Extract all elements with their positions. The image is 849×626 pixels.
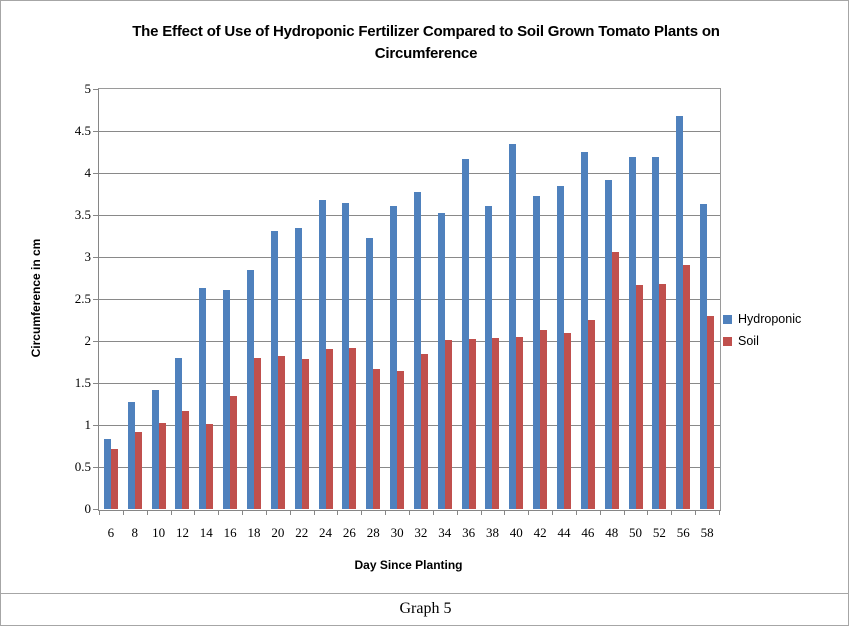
bar-group (409, 89, 433, 509)
bar-group (576, 89, 600, 509)
x-tick-mark (481, 510, 482, 515)
y-tick-label: 2 (31, 334, 91, 348)
y-tick-label: 1 (31, 418, 91, 432)
legend-item-hydroponic[interactable]: Hydroponic (723, 308, 843, 330)
bar-soil-day-8[interactable] (135, 432, 142, 509)
bar-soil-day-26[interactable] (349, 348, 356, 509)
bar-soil-day-34[interactable] (445, 340, 452, 509)
bar-group (314, 89, 338, 509)
bar-soil-day-46[interactable] (588, 320, 595, 509)
bar-soil-day-56[interactable] (683, 265, 690, 509)
bar-soil-day-28[interactable] (373, 369, 380, 509)
legend-item-soil[interactable]: Soil (723, 330, 843, 352)
bar-group (433, 89, 457, 509)
bar-group (695, 89, 719, 509)
bar-group (266, 89, 290, 509)
bar-hydroponic-day-52[interactable] (652, 157, 659, 509)
bar-group (481, 89, 505, 509)
bar-soil-day-36[interactable] (469, 339, 476, 509)
bar-hydroponic-day-30[interactable] (390, 206, 397, 509)
bar-soil-day-52[interactable] (659, 284, 666, 509)
y-tick-label: 0 (31, 502, 91, 516)
x-tick-mark (624, 510, 625, 515)
bar-hydroponic-day-8[interactable] (128, 402, 135, 509)
bar-hydroponic-day-18[interactable] (247, 270, 254, 509)
figure-caption: Graph 5 (1, 600, 849, 618)
bar-hydroponic-day-24[interactable] (319, 200, 326, 509)
x-tick-mark (218, 510, 219, 515)
x-tick-mark (290, 510, 291, 515)
bar-soil-day-32[interactable] (421, 354, 428, 509)
y-tick-label: 4 (31, 166, 91, 180)
bar-soil-day-44[interactable] (564, 333, 571, 509)
x-tick-mark (242, 510, 243, 515)
bar-hydroponic-day-12[interactable] (175, 358, 182, 509)
bar-hydroponic-day-26[interactable] (342, 203, 349, 509)
bar-group (600, 89, 624, 509)
chart-figure: The Effect of Use of Hydroponic Fertiliz… (0, 0, 849, 626)
bar-soil-day-24[interactable] (326, 349, 333, 509)
bar-hydroponic-day-38[interactable] (485, 206, 492, 509)
bar-soil-day-58[interactable] (707, 316, 714, 509)
bar-soil-day-22[interactable] (302, 359, 309, 509)
bar-soil-day-18[interactable] (254, 358, 261, 509)
bar-hydroponic-day-50[interactable] (629, 157, 636, 509)
y-tick-label: 0.5 (31, 460, 91, 474)
bar-group (504, 89, 528, 509)
bar-group (99, 89, 123, 509)
bar-hydroponic-day-42[interactable] (533, 196, 540, 509)
bar-soil-day-30[interactable] (397, 371, 404, 509)
x-tick-mark (671, 510, 672, 515)
x-tick-mark (647, 510, 648, 515)
x-tick-mark (385, 510, 386, 515)
bar-hydroponic-day-48[interactable] (605, 180, 612, 509)
x-tick-mark (504, 510, 505, 515)
bar-soil-day-48[interactable] (612, 252, 619, 509)
x-tick-label: 58 (687, 525, 727, 541)
x-tick-mark (457, 510, 458, 515)
y-tick-label: 5 (31, 82, 91, 96)
bar-hydroponic-day-10[interactable] (152, 390, 159, 509)
square-swatch-icon (723, 315, 732, 324)
bar-soil-day-12[interactable] (182, 411, 189, 509)
bar-soil-day-20[interactable] (278, 356, 285, 509)
bar-group (361, 89, 385, 509)
bar-soil-day-6[interactable] (111, 449, 118, 509)
bar-soil-day-38[interactable] (492, 338, 499, 509)
caption-divider (1, 593, 849, 594)
bar-group (457, 89, 481, 509)
legend-label: Soil (738, 334, 759, 348)
y-tick-label: 3.5 (31, 208, 91, 222)
x-axis-title: Day Since Planting (98, 558, 719, 572)
x-tick-mark (433, 510, 434, 515)
bar-hydroponic-day-34[interactable] (438, 213, 445, 509)
bar-group (671, 89, 695, 509)
bar-group (123, 89, 147, 509)
y-tick-label: 3 (31, 250, 91, 264)
bar-hydroponic-day-40[interactable] (509, 144, 516, 509)
bar-group (337, 89, 361, 509)
bar-soil-day-14[interactable] (206, 424, 213, 509)
x-tick-mark (337, 510, 338, 515)
square-swatch-icon (723, 337, 732, 346)
x-tick-mark (600, 510, 601, 515)
bar-hydroponic-day-36[interactable] (462, 159, 469, 509)
bar-group (242, 89, 266, 509)
bar-hydroponic-day-46[interactable] (581, 152, 588, 509)
x-tick-mark (99, 510, 100, 515)
bar-soil-day-40[interactable] (516, 337, 523, 509)
y-tick-label: 4.5 (31, 124, 91, 138)
bar-group (290, 89, 314, 509)
bar-hydroponic-day-44[interactable] (557, 186, 564, 509)
bar-group (218, 89, 242, 509)
bar-group (528, 89, 552, 509)
bar-hydroponic-day-28[interactable] (366, 238, 373, 509)
x-tick-mark (147, 510, 148, 515)
x-tick-mark (576, 510, 577, 515)
x-tick-mark (695, 510, 696, 515)
bar-group (147, 89, 171, 509)
bar-group (647, 89, 671, 509)
bar-hydroponic-day-20[interactable] (271, 231, 278, 509)
bar-hydroponic-day-14[interactable] (199, 288, 206, 509)
bar-hydroponic-day-6[interactable] (104, 439, 111, 509)
chart-legend: HydroponicSoil (723, 308, 843, 352)
bar-group (194, 89, 218, 509)
bar-hydroponic-day-32[interactable] (414, 192, 421, 509)
bar-group (624, 89, 648, 509)
y-tick-label: 2.5 (31, 292, 91, 306)
bar-hydroponic-day-16[interactable] (223, 290, 230, 509)
bar-soil-day-42[interactable] (540, 330, 547, 509)
x-tick-mark (194, 510, 195, 515)
bar-hydroponic-day-58[interactable] (700, 204, 707, 509)
x-tick-mark (552, 510, 553, 515)
chart-title: The Effect of Use of Hydroponic Fertiliz… (91, 21, 761, 65)
bars-layer (99, 89, 719, 509)
x-tick-mark (123, 510, 124, 515)
bar-group (552, 89, 576, 509)
x-tick-mark (719, 510, 720, 515)
x-tick-mark (314, 510, 315, 515)
bar-group (385, 89, 409, 509)
legend-label: Hydroponic (738, 312, 801, 326)
bar-soil-day-10[interactable] (159, 423, 166, 509)
bar-soil-day-50[interactable] (636, 285, 643, 509)
y-tick-label: 1.5 (31, 376, 91, 390)
x-tick-mark (361, 510, 362, 515)
x-tick-mark (528, 510, 529, 515)
x-tick-mark (409, 510, 410, 515)
bar-soil-day-16[interactable] (230, 396, 237, 509)
x-tick-mark (171, 510, 172, 515)
x-tick-mark (266, 510, 267, 515)
bar-hydroponic-day-56[interactable] (676, 116, 683, 509)
bar-hydroponic-day-22[interactable] (295, 228, 302, 509)
bar-group (171, 89, 195, 509)
